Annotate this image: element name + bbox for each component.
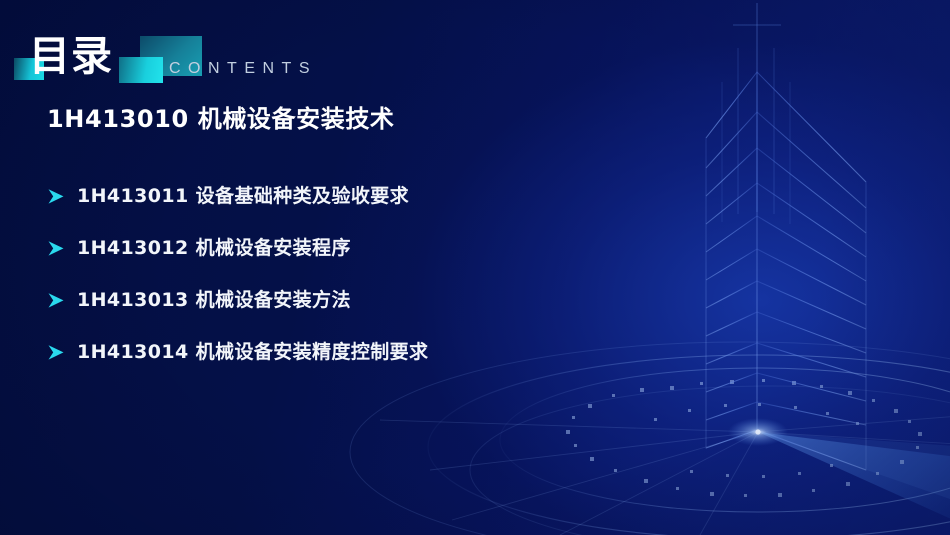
page-title-cn: 目录 <box>29 34 113 78</box>
list-item[interactable]: 1H413013 机械设备安装方法 <box>47 274 607 326</box>
list-item-label: 1H413012 机械设备安装程序 <box>77 235 351 261</box>
list-item-label: 1H413011 设备基础种类及验收要求 <box>77 183 409 209</box>
accent-block-mid <box>119 57 163 83</box>
arrow-right-triangle-icon <box>47 290 73 310</box>
list-item-label: 1H413014 机械设备安装精度控制要求 <box>77 339 428 365</box>
page-title-en: CONTENTS <box>169 59 317 79</box>
list-item-label: 1H413013 机械设备安装方法 <box>77 287 351 313</box>
slide-root: 目录 CONTENTS 1H413010 机械设备安装技术 1H413011 设… <box>0 0 950 535</box>
list-item[interactable]: 1H413012 机械设备安装程序 <box>47 222 607 274</box>
contents-list: 1H413011 设备基础种类及验收要求 1H413012 机械设备安装程序 1… <box>47 170 607 378</box>
arrow-right-triangle-icon <box>47 186 73 206</box>
header: 目录 CONTENTS <box>0 0 950 100</box>
section-title: 1H413010 机械设备安装技术 <box>47 102 395 136</box>
arrow-right-triangle-icon <box>47 238 73 258</box>
list-item[interactable]: 1H413014 机械设备安装精度控制要求 <box>47 326 607 378</box>
arrow-right-triangle-icon <box>47 342 73 362</box>
list-item[interactable]: 1H413011 设备基础种类及验收要求 <box>47 170 607 222</box>
